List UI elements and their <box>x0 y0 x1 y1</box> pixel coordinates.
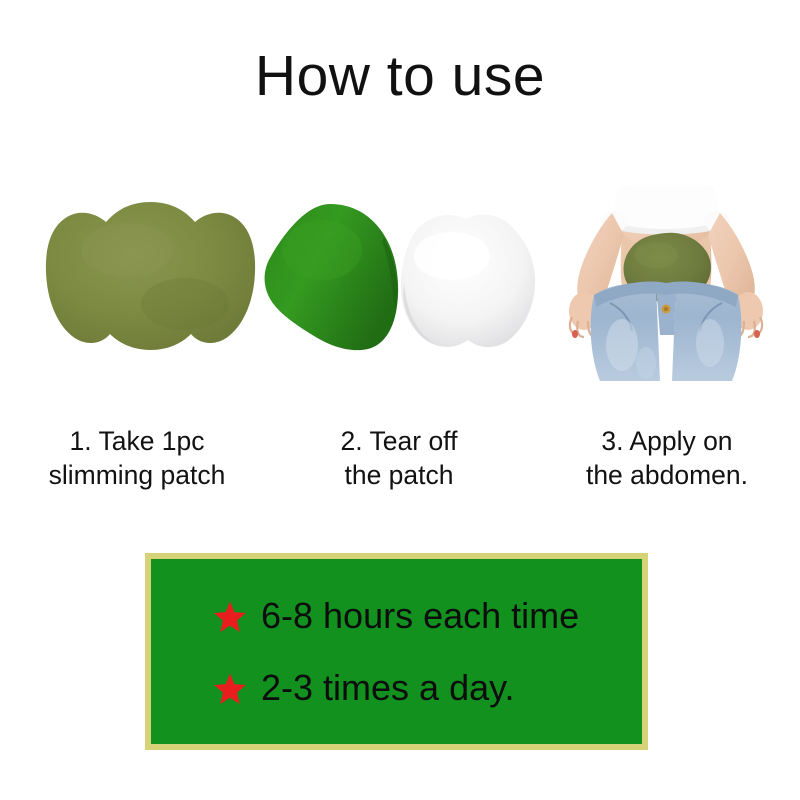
star-icon <box>213 600 247 634</box>
step-1: 1. Take 1pc slimming patch <box>4 180 270 510</box>
green-slimming-patch-icon <box>264 202 400 352</box>
page-title: How to use <box>0 48 800 105</box>
step-2: 2. Tear off the patch <box>266 180 532 510</box>
step-3: 3. Apply on the abdomen. <box>534 180 800 510</box>
step-3-caption: 3. Apply on the abdomen. <box>534 425 800 493</box>
usage-instructions-box: 6-8 hours each time 2-3 times a day. <box>145 553 648 750</box>
step-1-illustration <box>4 180 270 380</box>
usage-frequency-text: 2-3 times a day. <box>261 670 514 706</box>
olive-slimming-patch-icon <box>45 200 256 352</box>
usage-duration-text: 6-8 hours each time <box>261 598 579 634</box>
usage-line-frequency: 2-3 times a day. <box>213 663 642 713</box>
how-to-use-infographic: How to use 1. Take <box>0 0 800 800</box>
white-backing-liner-icon <box>390 212 540 352</box>
star-icon <box>213 672 247 706</box>
step-2-caption: 2. Tear off the patch <box>266 425 532 493</box>
step-1-caption: 1. Take 1pc slimming patch <box>4 425 270 493</box>
steps-row: 1. Take 1pc slimming patch <box>0 180 800 510</box>
woman-wearing-patch-photo <box>560 185 772 381</box>
usage-line-duration: 6-8 hours each time <box>213 591 642 641</box>
step-2-illustration <box>266 180 532 380</box>
step-3-illustration <box>534 180 800 380</box>
